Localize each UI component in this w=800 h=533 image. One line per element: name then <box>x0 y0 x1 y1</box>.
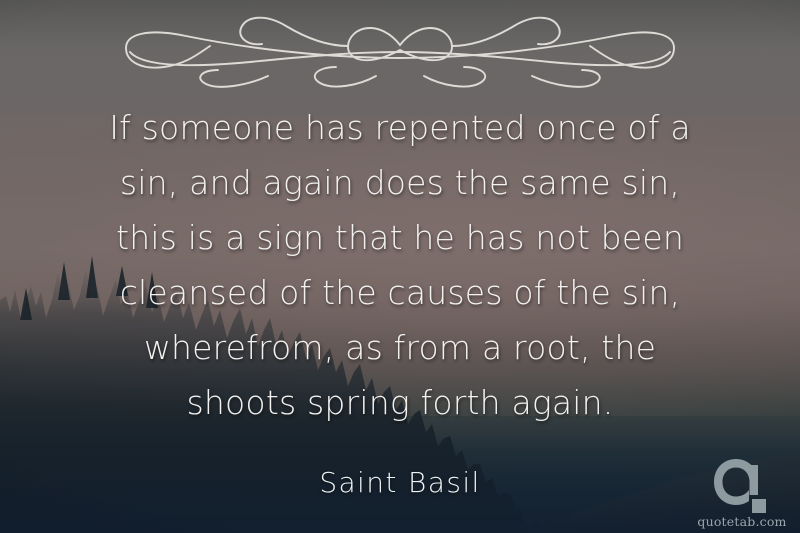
quote-line: If someone has repented once of a <box>46 100 754 155</box>
quote-line: sin, and again does the same sin, <box>46 155 754 210</box>
watermark[interactable]: quotetab.com <box>694 457 790 529</box>
heart-flourish-ornament-icon <box>90 4 710 90</box>
quotetab-q-logo-icon <box>712 457 772 513</box>
quote-line: shoots spring forth again. <box>46 375 754 430</box>
quote-line: this is a sign that he has not been <box>46 210 754 265</box>
quote-line: wherefrom, as from a root, the <box>46 320 754 375</box>
quote-card: If someone has repented once of a sin, a… <box>0 0 800 533</box>
watermark-text: quotetab.com <box>694 514 790 529</box>
quote-author: Saint Basil <box>0 466 800 499</box>
quote-text: If someone has repented once of a sin, a… <box>0 100 800 430</box>
quote-line: cleansed of the causes of the sin, <box>46 265 754 320</box>
